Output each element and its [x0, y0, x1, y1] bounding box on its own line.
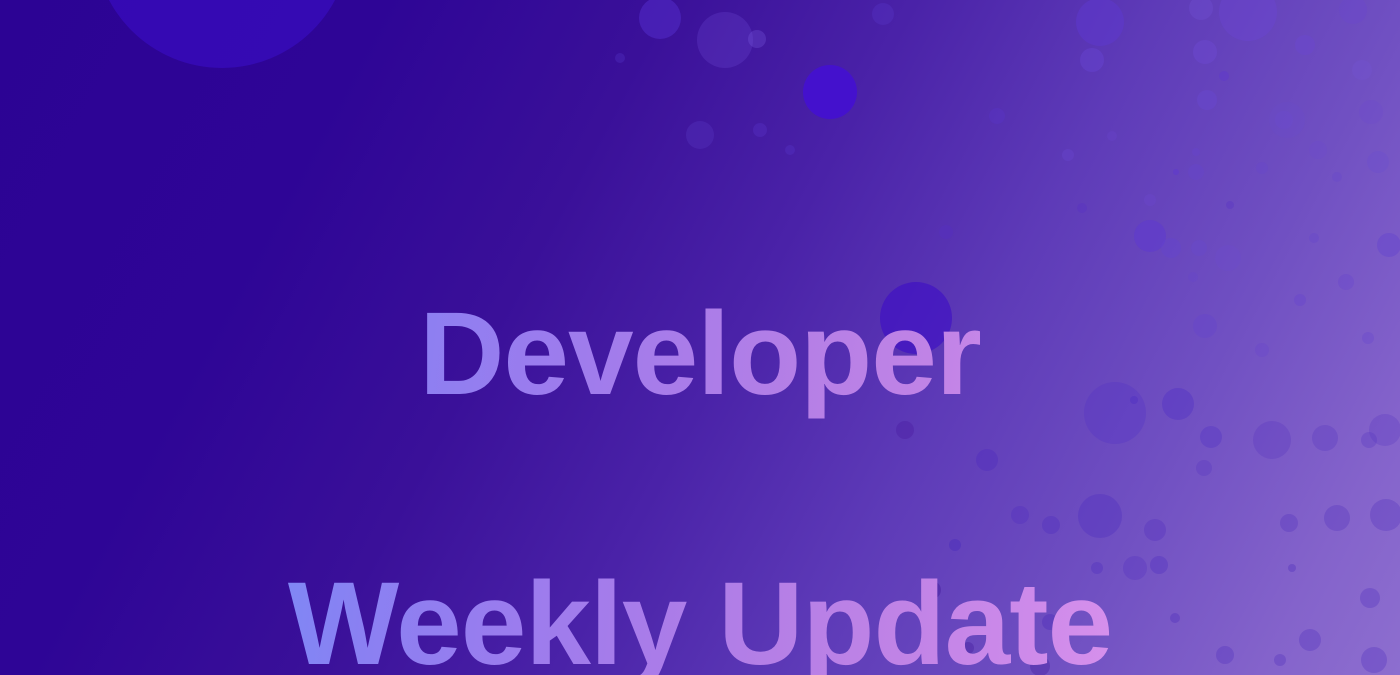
title-slide: Developer Weekly Update May 8, 2024 — [0, 0, 1400, 675]
slide-content: Developer Weekly Update May 8, 2024 — [0, 0, 1400, 675]
title-line-1: Developer — [288, 287, 1112, 422]
page-title: Developer Weekly Update — [288, 152, 1112, 675]
title-line-2: Weekly Update — [288, 557, 1112, 675]
